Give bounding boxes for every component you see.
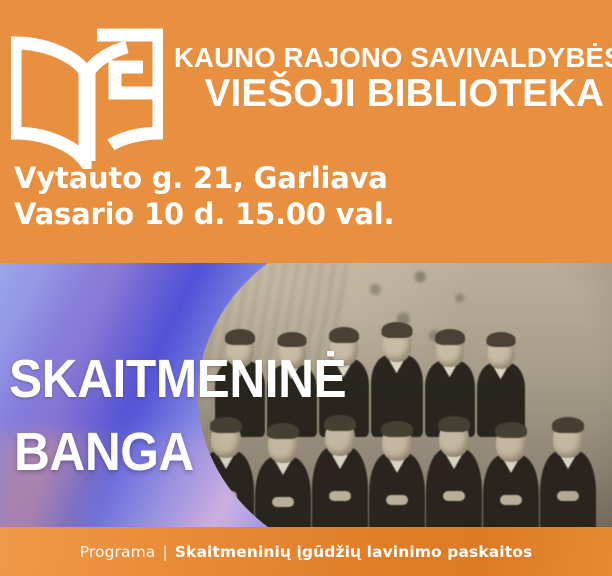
open-book-logo-icon xyxy=(11,27,163,169)
program-text: Programa | Skaitmeninių įgūdžių lavinimo… xyxy=(80,543,533,561)
event-datetime: Vasario 10 d. 15.00 val. xyxy=(14,196,394,232)
event-details: Vytauto g. 21, Garliava Vasario 10 d. 15… xyxy=(14,160,394,232)
program-label: Programa xyxy=(80,543,156,561)
headline-secondary: BANGA xyxy=(14,423,194,481)
program-value: Skaitmeninių įgūdžių lavinimo paskaitos xyxy=(175,543,533,561)
organization-title: KAUNO RAJONO SAVIVALDYBĖS VIEŠOJI BIBLIO… xyxy=(174,44,604,114)
event-address: Vytauto g. 21, Garliava xyxy=(14,160,394,196)
poster-root: KAUNO RAJONO SAVIVALDYBĖS VIEŠOJI BIBLIO… xyxy=(0,0,612,576)
header-band: KAUNO RAJONO SAVIVALDYBĖS VIEŠOJI BIBLIO… xyxy=(0,0,612,263)
org-name-line-2: VIEŠOJI BIBLIOTEKA xyxy=(174,74,604,115)
headline-primary: SKAITMENINĖ xyxy=(9,350,346,408)
org-name-line-1: KAUNO RAJONO SAVIVALDYBĖS xyxy=(174,44,604,72)
program-separator: | xyxy=(160,543,169,561)
program-bar: Programa | Skaitmeninių įgūdžių lavinimo… xyxy=(0,527,612,576)
